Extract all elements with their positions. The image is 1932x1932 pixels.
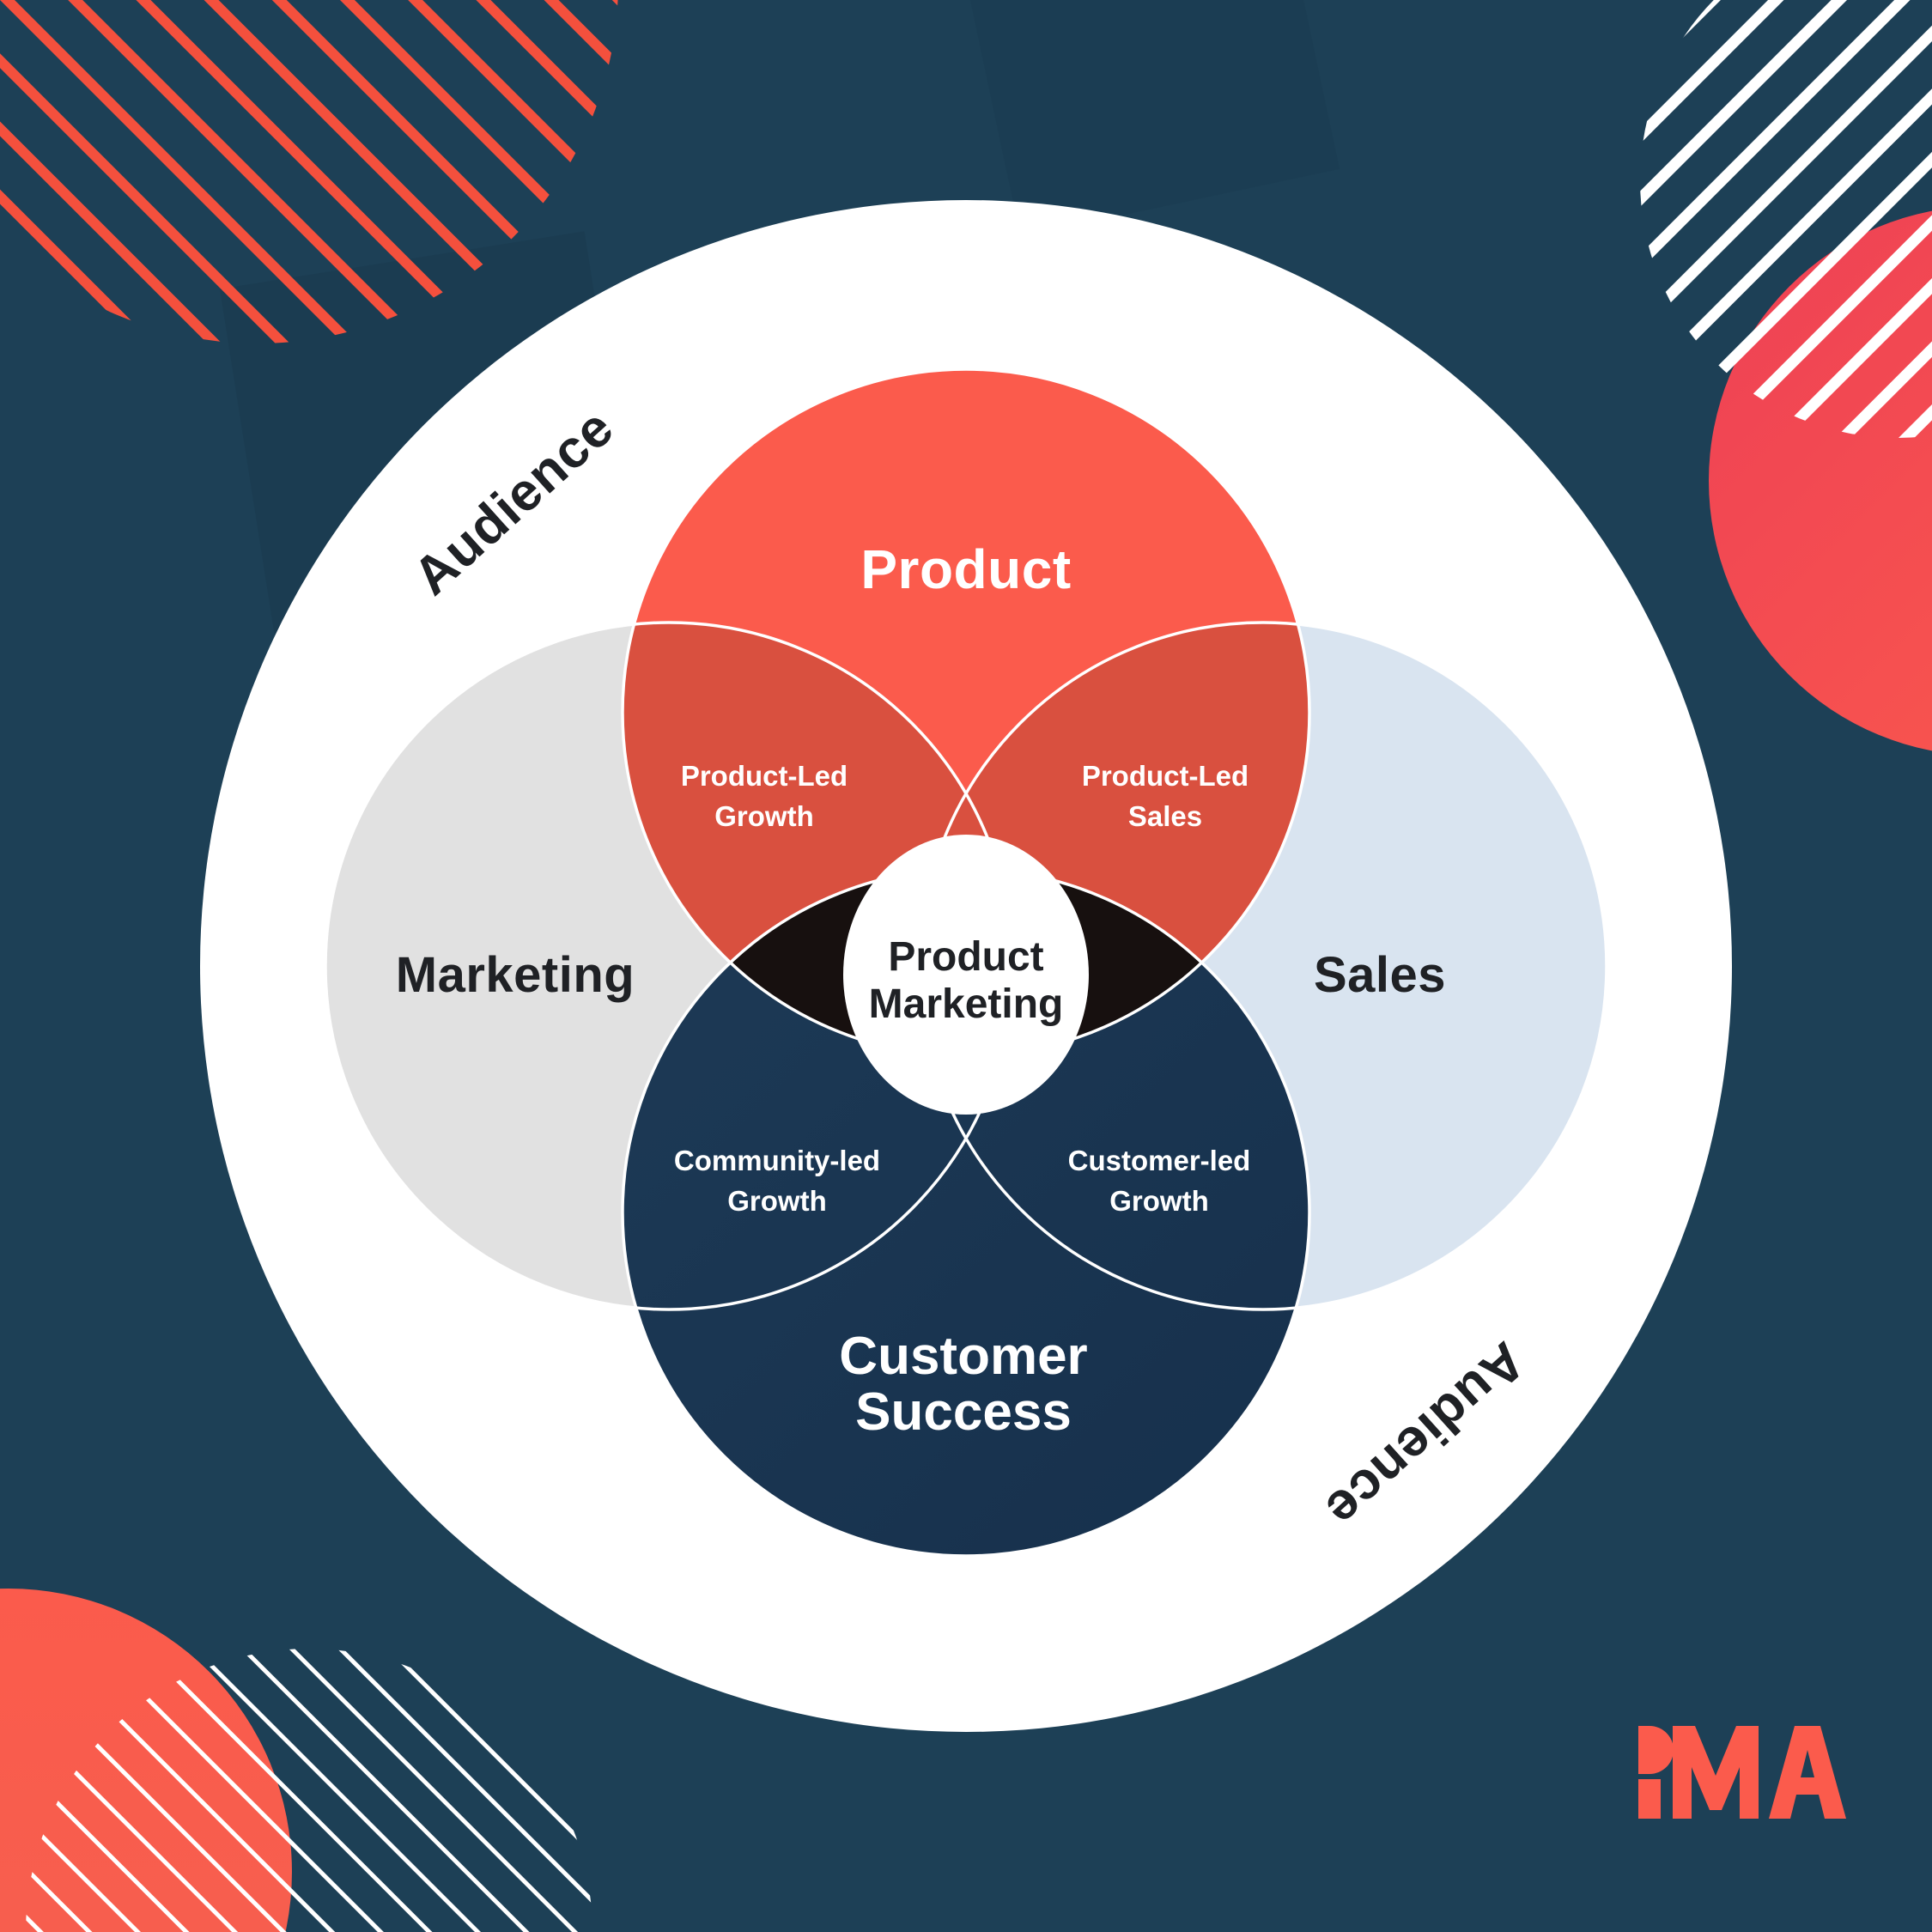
- label-center-line1: Product: [888, 934, 1043, 980]
- label-customer-success-line1: Customer: [839, 1327, 1087, 1386]
- label-customer-led-growth-line2: Growth: [1109, 1185, 1208, 1217]
- venn-diagram-graphic: Audience Audience Product Marketing Sale…: [0, 0, 1932, 1932]
- label-sales: Sales: [1314, 947, 1446, 1003]
- label-product: Product: [860, 538, 1071, 600]
- pma-logo-p-stem: [1638, 1779, 1661, 1819]
- infographic-canvas: Audience Audience Product Marketing Sale…: [0, 0, 1932, 1932]
- label-product-led-growth-line2: Growth: [714, 800, 813, 832]
- label-community-led-growth-line1: Community-led: [674, 1145, 880, 1176]
- label-marketing: Marketing: [396, 947, 635, 1003]
- label-product-led-growth-line1: Product-Led: [681, 760, 848, 792]
- label-center-line2: Marketing: [869, 981, 1064, 1027]
- label-product-led-sales-line2: Sales: [1128, 800, 1202, 832]
- label-product-led-sales-line1: Product-Led: [1082, 760, 1249, 792]
- label-customer-success: Customer Success: [839, 1327, 1087, 1442]
- label-customer-led-growth-line1: Customer-led: [1068, 1145, 1251, 1176]
- label-community-led-growth-line2: Growth: [727, 1185, 826, 1217]
- label-customer-success-line2: Success: [855, 1382, 1072, 1442]
